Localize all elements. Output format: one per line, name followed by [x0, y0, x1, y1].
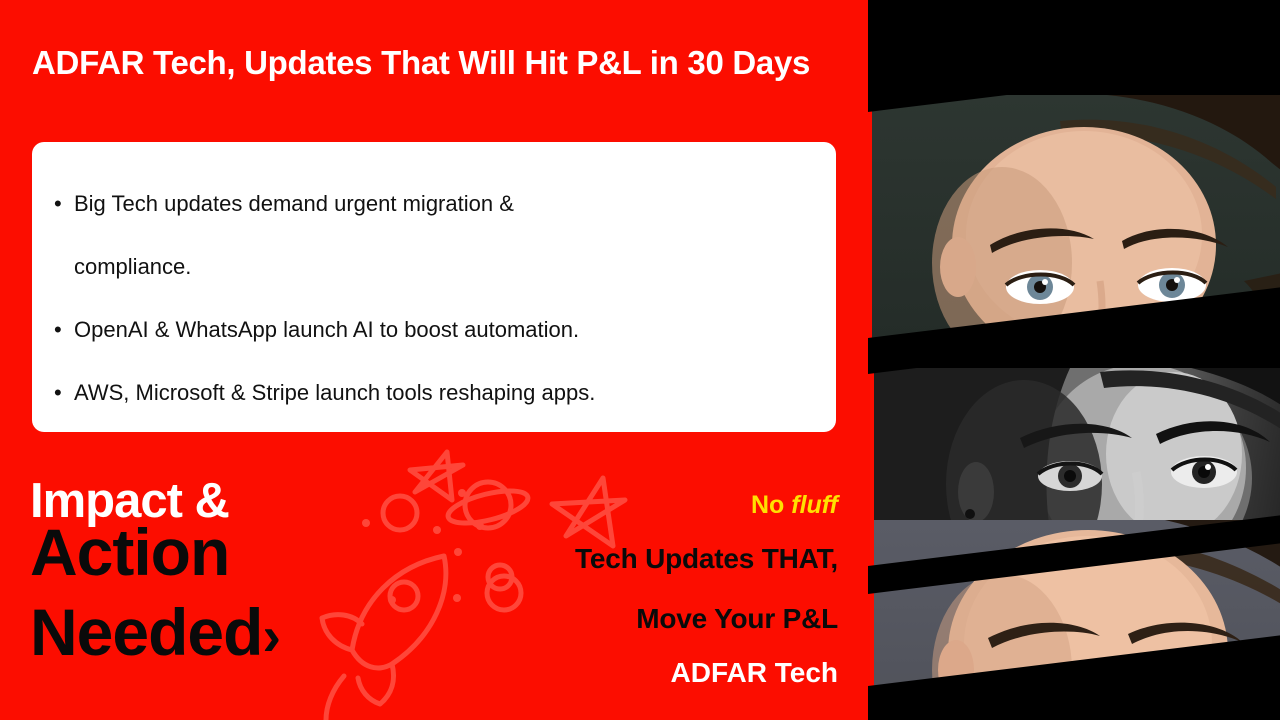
slogan-block: Impact & Action Needed›	[30, 475, 280, 671]
highlights-list: • Big Tech updates demand urgent migrati…	[54, 172, 810, 424]
dot-doodle	[458, 489, 466, 497]
list-item: • AWS, Microsoft & Stripe launch tools r…	[54, 361, 810, 424]
bullet-marker-icon: •	[54, 361, 74, 424]
dot-doodle	[453, 594, 461, 602]
dot-doodle	[433, 526, 441, 534]
circle-doodle-medium	[383, 496, 417, 530]
slogan-line-needed: Needed›	[30, 597, 280, 671]
list-item-text: AWS, Microsoft & Stripe launch tools res…	[74, 361, 810, 424]
highlights-card: • Big Tech updates demand urgent migrati…	[32, 142, 836, 432]
kicker-line-1: Tech Updates THAT,	[478, 540, 838, 578]
dot-doodle	[454, 548, 462, 556]
no-fluff-badge: No fluff	[478, 488, 838, 522]
slogan-line-action: Action	[30, 521, 280, 583]
list-item: • OpenAI & WhatsApp launch AI to boost a…	[54, 298, 810, 361]
bullet-marker-icon: •	[54, 298, 74, 361]
chevron-right-icon: ›	[262, 604, 280, 667]
slide-canvas: ADFAR Tech, Updates That Will Hit P&L in…	[0, 0, 1280, 720]
bullet-marker-icon: •	[54, 172, 74, 235]
brand-name: ADFAR Tech	[478, 654, 838, 692]
list-item: • Big Tech updates demand urgent migrati…	[54, 172, 810, 235]
kicker-line-2: Move Your P&L	[478, 600, 838, 638]
list-item-text: compliance.	[74, 235, 810, 298]
dot-doodle	[388, 596, 396, 604]
list-item-text: OpenAI & WhatsApp launch AI to boost aut…	[74, 298, 810, 361]
star-doodle-left	[410, 452, 463, 500]
no-fluff-fluff: fluff	[791, 491, 838, 519]
page-title: ADFAR Tech, Updates That Will Hit P&L in…	[32, 44, 1042, 82]
rocket-doodle	[322, 556, 446, 720]
kicker-block: No fluff Tech Updates THAT, Move Your P&…	[478, 488, 838, 692]
dot-doodle	[362, 519, 370, 527]
list-item-text: Big Tech updates demand urgent migration…	[74, 172, 810, 235]
slogan-needed-text: Needed	[30, 595, 262, 669]
list-item-continuation: • compliance.	[54, 235, 810, 298]
no-fluff-no: No	[751, 491, 784, 519]
